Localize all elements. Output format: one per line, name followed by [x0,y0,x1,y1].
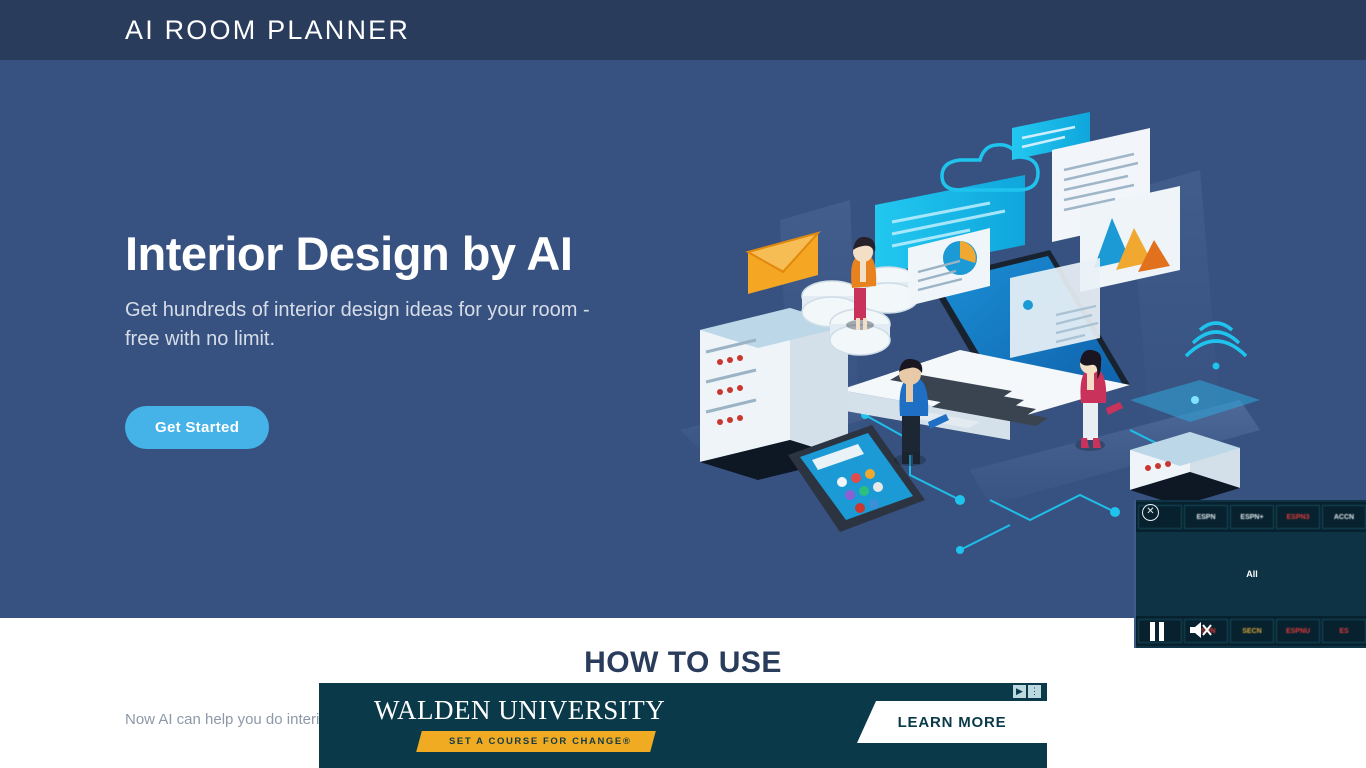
adchoices-controls[interactable]: ▶ ⋮ [1013,685,1041,698]
ad-brand-logo: WALDEN UNIVERSITY [374,695,665,726]
pause-icon[interactable] [1148,621,1166,641]
ad-learn-more-button[interactable]: LEARN MORE [857,701,1047,743]
hero-title: Interior Design by AI [125,228,685,280]
page-root: AI ROOM PLANNER [0,0,1366,768]
adchoices-triangle-icon[interactable]: ▶ [1013,685,1026,698]
hero-subtitle: Get hundreds of interior design ideas fo… [125,296,625,354]
floating-video-player[interactable]: ESPN ESPN+ ESPN3 ACCN All ESPN SECN ESPN… [1134,500,1366,648]
close-icon[interactable]: ✕ [1142,504,1159,521]
channel-tile[interactable]: ES [1322,619,1366,643]
site-header: AI ROOM PLANNER [0,0,1366,60]
video-bottom-tile-row: ESPN SECN ESPNU ES [1136,616,1366,646]
ad-banner[interactable]: WALDEN UNIVERSITY SET A COURSE FOR CHANG… [319,683,1047,768]
ad-learn-more-label: LEARN MORE [898,714,1007,731]
hero-copy: Interior Design by AI Get hundreds of in… [125,228,685,449]
muted-speaker-icon[interactable] [1188,619,1212,641]
vertical-dots-icon[interactable]: ⋮ [1028,685,1041,698]
site-brand-title: AI ROOM PLANNER [0,15,410,46]
channel-tile[interactable]: ESPNU [1276,619,1320,643]
channel-tile[interactable]: SECN [1230,619,1274,643]
ad-tagline-text: SET A COURSE FOR CHANGE® [449,736,631,747]
get-started-button[interactable]: Get Started [125,406,269,449]
ad-tagline-ribbon: SET A COURSE FOR CHANGE® [416,731,656,752]
how-to-use-title: HOW TO USE [0,646,1366,680]
video-all-label: All [1246,569,1258,579]
